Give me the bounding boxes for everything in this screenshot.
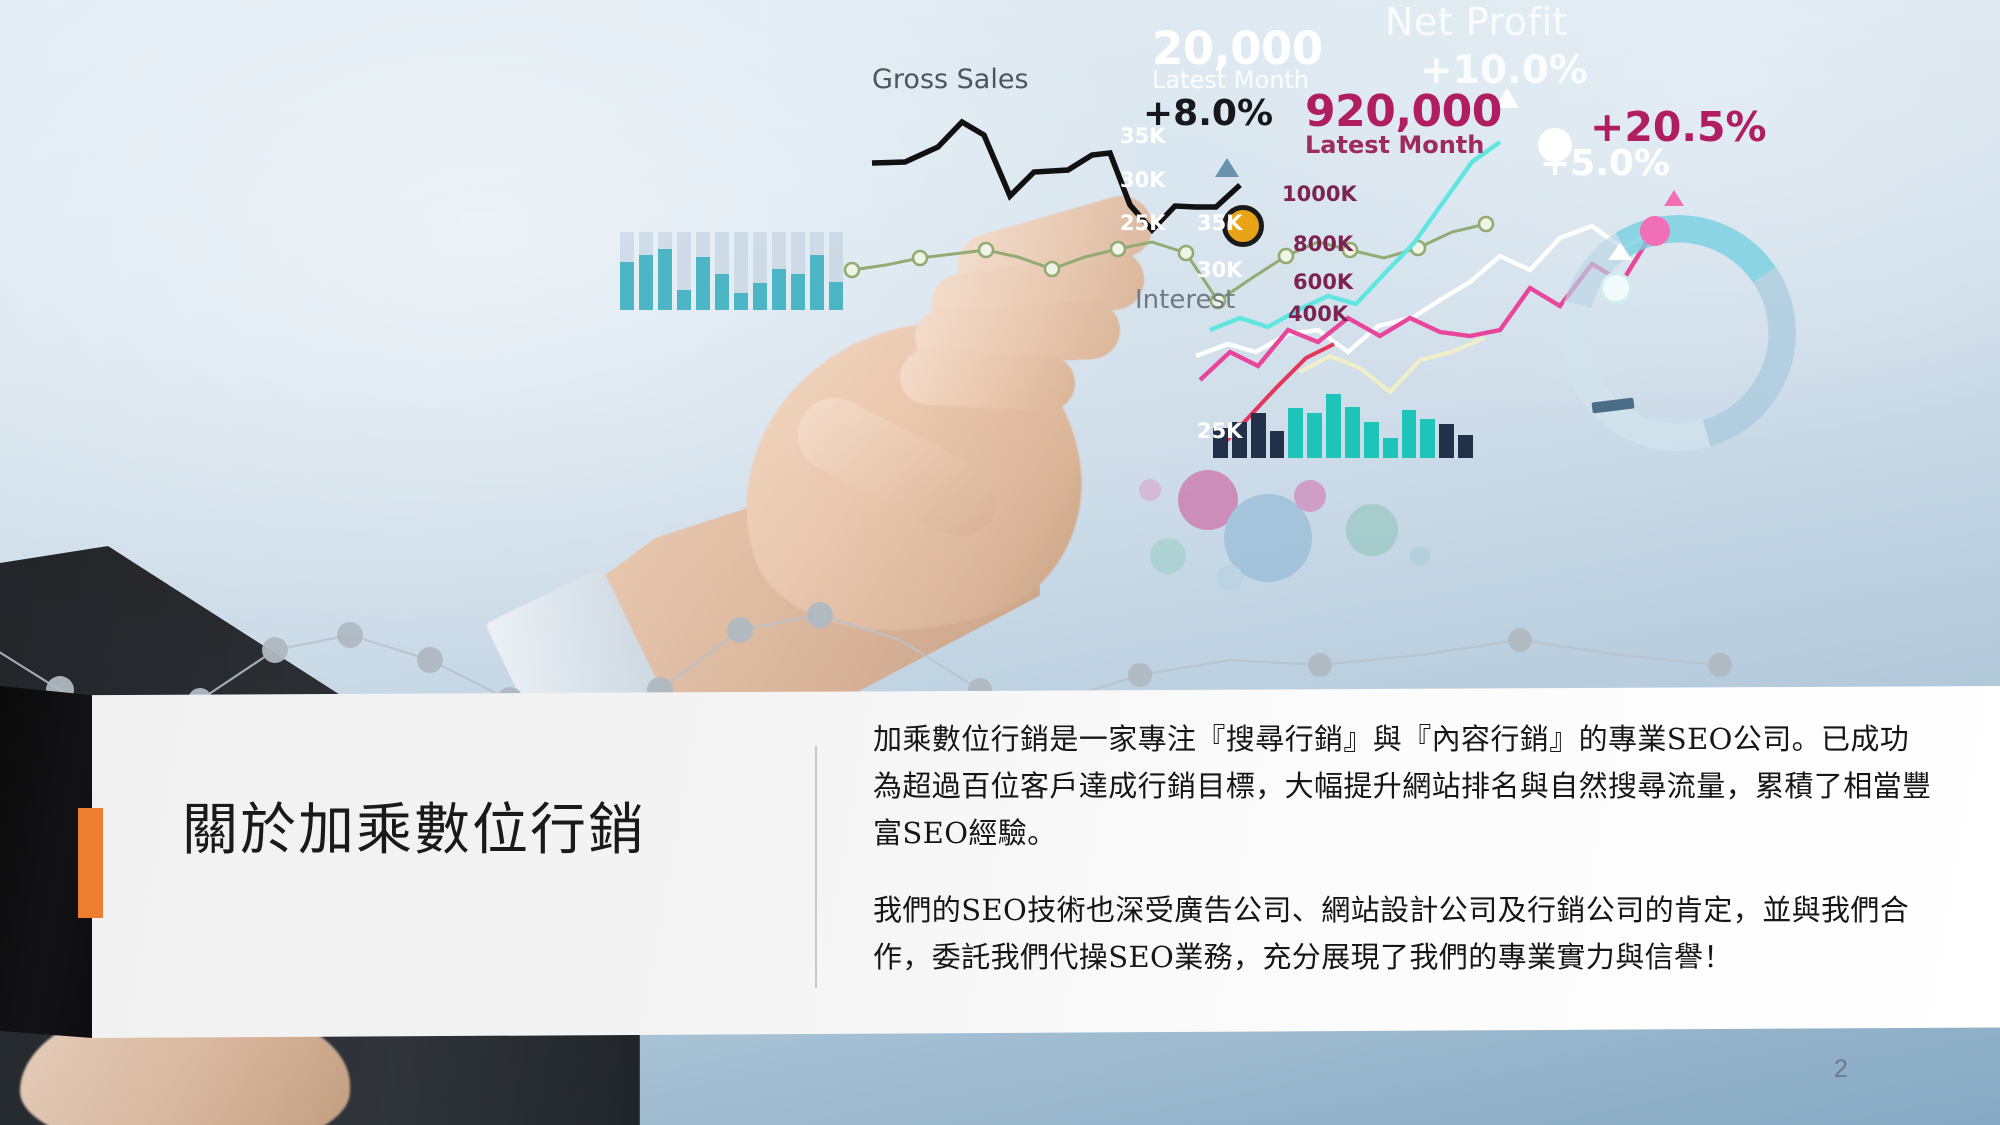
interest-label: Interest <box>1135 285 1235 315</box>
bar-column <box>658 232 672 310</box>
page-number: 2 <box>1834 1055 1848 1084</box>
white-line-endpoint-dot <box>1600 272 1632 304</box>
body-text: 加乘數位行銷是一家專注『搜尋行銷』與『內容行銷』的專業SEO公司。已成功為超過百… <box>873 716 1933 981</box>
axis-tick-left-35k: 35K <box>1120 124 1166 148</box>
net-profit-value: 920,000 <box>1305 86 1502 137</box>
bar-column <box>1307 413 1322 458</box>
bar-column <box>1288 408 1303 458</box>
bar-column <box>791 232 805 310</box>
net-profit-label: Net Profit <box>1385 0 1568 44</box>
axis-tick-left-30k: 30K <box>1120 168 1166 192</box>
gross-sales-period-label: Latest Month <box>1152 66 1309 94</box>
share-donut-chart <box>1560 215 1796 451</box>
bar-column <box>1402 410 1417 458</box>
title-accent-bar <box>78 808 103 918</box>
bar-column <box>1345 407 1360 458</box>
bar-column <box>810 232 824 310</box>
axis-tick-mid-25k: 25K <box>1197 419 1243 443</box>
net-profit-period-label: Latest Month <box>1305 131 1484 159</box>
bar-column <box>696 232 710 310</box>
bar-column <box>639 232 653 310</box>
bar-column <box>1420 419 1435 458</box>
bar-column <box>1383 438 1398 458</box>
bar-column <box>1326 394 1341 458</box>
pink-up-triangle <box>1664 190 1684 206</box>
gross-sales-line <box>872 122 1240 230</box>
bar-column <box>772 232 786 310</box>
axis-tick-mid-30k: 30K <box>1197 258 1243 282</box>
axis-tick-right-800k: 800K <box>1293 232 1353 256</box>
axis-tick-right-600k: 600K <box>1293 270 1353 294</box>
gross-sales-label: Gross Sales <box>872 64 1029 95</box>
slide-root: Gross Sales Net Profit 20,000 Latest Mon… <box>0 0 2000 1125</box>
bar-column <box>1439 424 1454 458</box>
page-title: 關於加乘數位行銷 <box>182 798 742 864</box>
bar-column <box>1458 435 1473 458</box>
bar-column <box>1251 413 1266 458</box>
body-paragraph-1: 加乘數位行銷是一家專注『搜尋行銷』與『內容行銷』的專業SEO公司。已成功為超過百… <box>873 716 1933 857</box>
bar-column <box>829 232 843 310</box>
net-profit-bar-chart <box>1213 380 1473 458</box>
axis-tick-mid-35k: 35K <box>1197 211 1243 235</box>
bar-column <box>715 232 729 310</box>
bar-column <box>1270 431 1285 458</box>
bar-column <box>677 232 691 310</box>
axis-tick-right-1000k: 1000K <box>1282 182 1357 206</box>
pink-line-endpoint-dot <box>1640 216 1670 246</box>
bubble-cluster <box>1139 470 1430 591</box>
axis-tick-right-400k: 400K <box>1288 302 1348 326</box>
gross-sales-bar-chart <box>620 232 852 310</box>
body-paragraph-2: 我們的SEO技術也深受廣告公司、網站設計公司及行銷公司的肯定，並與我們合作，委託… <box>873 887 1933 981</box>
axis-tick-left-25k: 25K <box>1120 211 1166 235</box>
bar-column <box>753 232 767 310</box>
white-line-up-triangle <box>1608 243 1632 260</box>
bar-column <box>620 232 634 310</box>
tertiary-change-value: +5.0% <box>1540 143 1670 184</box>
gross-sales-up-triangle <box>1215 158 1239 177</box>
bar-column <box>1364 422 1379 458</box>
bar-column <box>734 232 748 310</box>
title-body-divider <box>815 746 817 988</box>
